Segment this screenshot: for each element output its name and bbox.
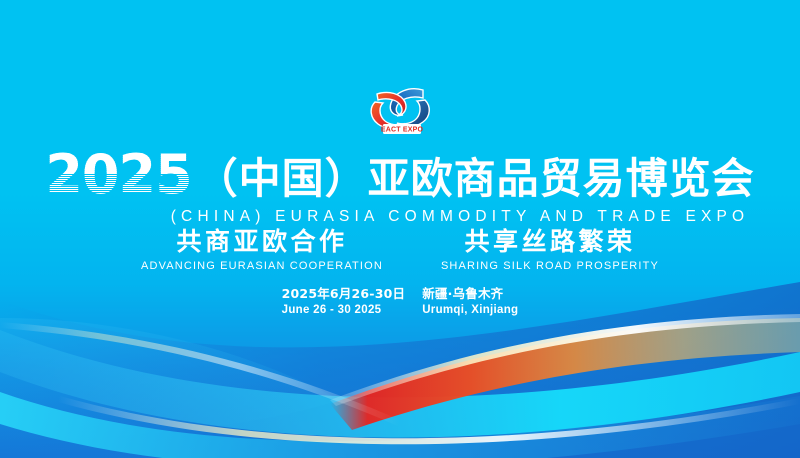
slogan-1: 共商亚欧合作 ADVANCING EURASIAN COOPERATION [141,228,383,272]
wave-highlight-lower [58,396,800,444]
logo-wordmark-text: EACT EXPO [381,127,424,134]
logo-container: EACT EXPO [0,84,800,136]
wave-red-orange [330,318,800,430]
event-place-chinese: 新疆·乌鲁木齐 [422,286,518,303]
eact-expo-logo-icon: EACT EXPO [361,84,439,136]
wave-cyan-secondary [0,392,800,458]
wave-cyan-main [0,330,800,438]
title-year: 2025 [45,148,191,202]
wave-soft-pocket [0,318,340,440]
title-block: 2025 （中国）亚欧商品贸易博览会 (CHINA) EURASIA COMMO… [0,150,800,226]
slogan-block: 共商亚欧合作 ADVANCING EURASIAN COOPERATION 共享… [0,228,800,272]
title-chinese: （中国）亚欧商品贸易博览会 [196,158,755,202]
expo-poster: EACT EXPO 2025 （中国）亚欧商品贸易博览会 (CHINA) EUR… [0,0,800,458]
title-row: 2025 （中国）亚欧商品贸易博览会 [0,150,800,202]
event-date-english: June 26 - 30 2025 [282,303,406,319]
event-date: 2025年6月26-30日 June 26 - 30 2025 [282,286,406,318]
slogan-2: 共享丝路繁荣 SHARING SILK ROAD PROSPERITY [441,228,659,272]
slogan-1-english: ADVANCING EURASIAN COOPERATION [141,260,383,272]
event-place: 新疆·乌鲁木齐 Urumqi, Xinjiang [422,286,518,318]
event-meta: 2025年6月26-30日 June 26 - 30 2025 新疆·乌鲁木齐 … [0,286,800,318]
title-english: (CHINA) EURASIA COMMODITY AND TRADE EXPO [0,208,800,226]
slogan-2-chinese: 共享丝路繁荣 [441,228,659,256]
event-place-english: Urumqi, Xinjiang [422,303,518,319]
slogan-1-chinese: 共商亚欧合作 [141,228,383,256]
wave-sheen-diagonal [0,322,400,426]
slogan-2-english: SHARING SILK ROAD PROSPERITY [441,260,659,272]
wave-highlight-upper [330,314,800,406]
event-date-chinese: 2025年6月26-30日 [282,286,406,303]
